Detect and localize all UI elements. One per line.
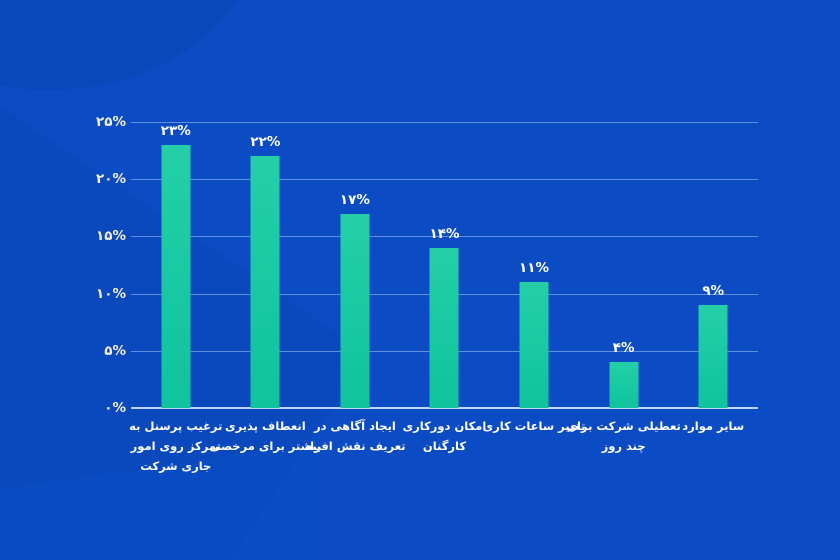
bar-group[interactable]: ۲۲%	[221, 122, 311, 408]
x-axis-category-labels: ترغیب پرسنل بهتمرکز روی امورجاری شرکتانع…	[131, 416, 758, 526]
bar[interactable]	[609, 362, 638, 408]
bar[interactable]	[430, 248, 459, 408]
bar-value-label: ۱۷%	[340, 192, 370, 208]
x-axis-label-7: سایر موارد	[650, 416, 776, 436]
bar-value-label: ۹%	[702, 283, 724, 299]
y-axis-tick-15: ۱۵%	[66, 228, 126, 244]
bar[interactable]	[699, 305, 728, 408]
y-axis-tick-10: ۱۰%	[66, 286, 126, 302]
bar[interactable]	[251, 156, 280, 408]
bar-group[interactable]: ۴%	[579, 122, 669, 408]
y-axis-tick-25: ۲۵%	[66, 114, 126, 130]
bar-value-label: ۱۱%	[519, 260, 549, 276]
bar-value-label: ۲۲%	[250, 134, 280, 150]
x-axis-label-line: سایر موارد	[650, 416, 776, 436]
bar[interactable]	[340, 214, 369, 408]
bar-value-label: ۱۴%	[429, 226, 459, 242]
bar-series: ۲۳%۲۲%۱۷%۱۴%۱۱%۴%۹%	[131, 122, 758, 408]
bar-group[interactable]: ۱۱%	[489, 122, 579, 408]
bar-group[interactable]: ۹%	[668, 122, 758, 408]
x-axis-label-line: چند روز	[561, 436, 687, 456]
bar-value-label: ۲۳%	[161, 123, 191, 139]
y-axis-tick-5: ۵%	[66, 343, 126, 359]
y-axis-tick-20: ۲۰%	[66, 171, 126, 187]
bar[interactable]	[161, 145, 190, 408]
bar-group[interactable]: ۱۴%	[400, 122, 490, 408]
x-axis-label-line: جاری شرکت	[113, 456, 239, 476]
bar-group[interactable]: ۱۷%	[310, 122, 400, 408]
bar[interactable]	[520, 282, 549, 408]
background-decoration-top-left	[0, 0, 260, 90]
x-axis-label-line: کارگنان	[382, 436, 508, 456]
y-axis-tick-0: ۰%	[66, 400, 126, 416]
bar-value-label: ۴%	[613, 340, 635, 356]
chart-canvas: ۲۵%۲۰%۱۵%۱۰%۵%۰% ۲۳%۲۲%۱۷%۱۴%۱۱%۴%۹% ترغ…	[0, 0, 840, 560]
bar-group[interactable]: ۲۳%	[131, 122, 221, 408]
